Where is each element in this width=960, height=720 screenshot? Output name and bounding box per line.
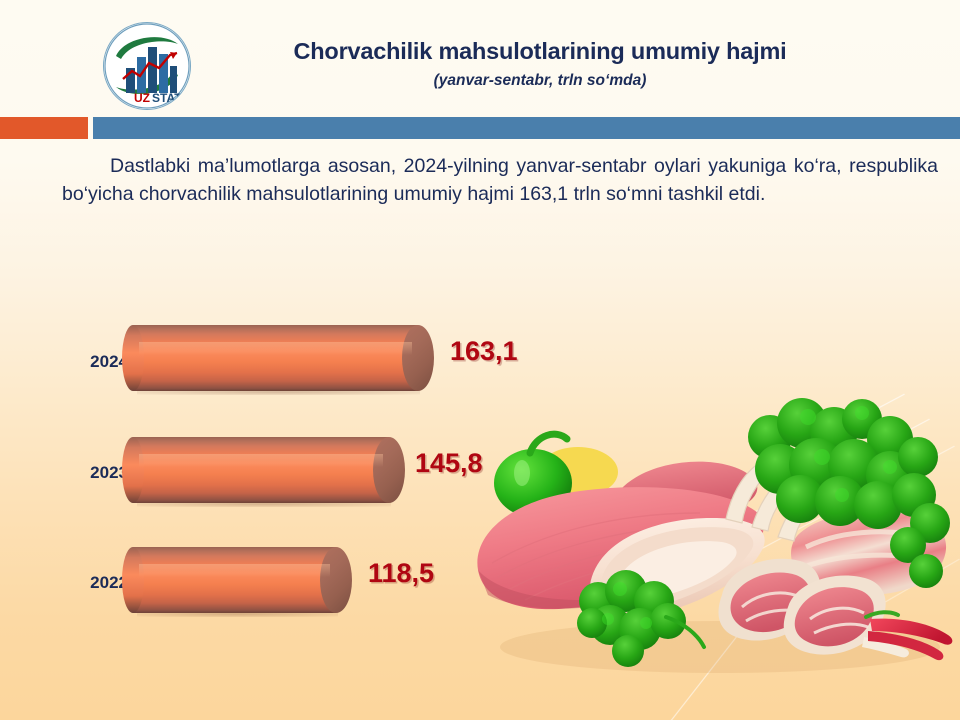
value-label-2022: 118,5 [368,558,434,589]
bar-body [133,547,336,613]
bar-cap-right [373,437,405,503]
bar-chart: 2024 163,1 2023 145,8 2022 118,5 [0,0,960,720]
value-label-2023: 145,8 [415,448,483,479]
bar-cap-left [122,437,144,503]
bar-body [133,325,418,391]
bar-cap-right [402,325,434,391]
bar-2022 [133,547,352,613]
bar-cap-right [320,547,352,613]
category-label-2023: 2023 [58,463,128,483]
bar-cap-left [122,325,144,391]
bar-2023 [133,437,405,503]
bar-2024 [133,325,434,391]
bar-cap-left [122,547,144,613]
slide-root: UZ STAT Chorvachilik mahsulotlarining um… [0,0,960,720]
category-label-2024: 2024 [58,352,128,372]
value-label-2024: 163,1 [450,336,518,367]
bar-body [133,437,389,503]
category-label-2022: 2022 [58,573,128,593]
